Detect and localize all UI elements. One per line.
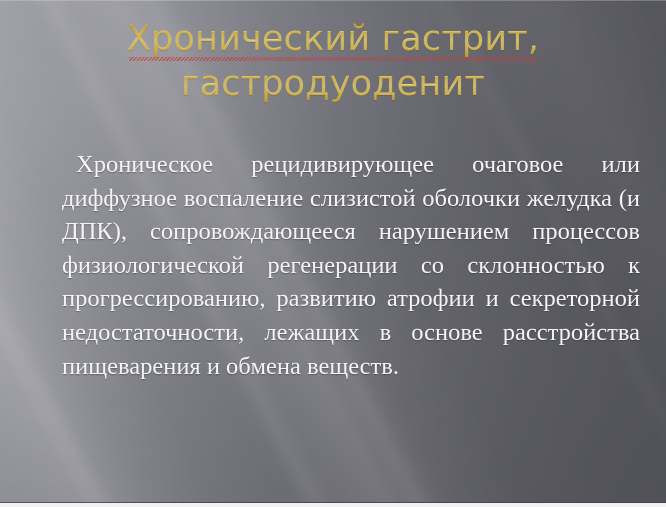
presentation-slide: Хронический гастрит, гастродуоденит Хрон… [0, 0, 666, 507]
slide-title[interactable]: Хронический гастрит, гастродуоденит [0, 17, 666, 107]
slide-title-line-1-text: Хронический гастрит, [127, 19, 539, 59]
slide-bottom-edge [0, 503, 666, 507]
slide-title-line-1[interactable]: Хронический гастрит, [127, 17, 539, 62]
spellcheck-underline-icon [129, 57, 537, 61]
slide-top-edge [0, 0, 666, 1]
slide-body[interactable]: Хроническое рецидивирующее очаговое или … [62, 148, 640, 383]
slide-body-paragraph: Хроническое рецидивирующее очаговое или … [62, 148, 640, 383]
slide-title-line-2[interactable]: гастродуоденит [0, 62, 666, 107]
